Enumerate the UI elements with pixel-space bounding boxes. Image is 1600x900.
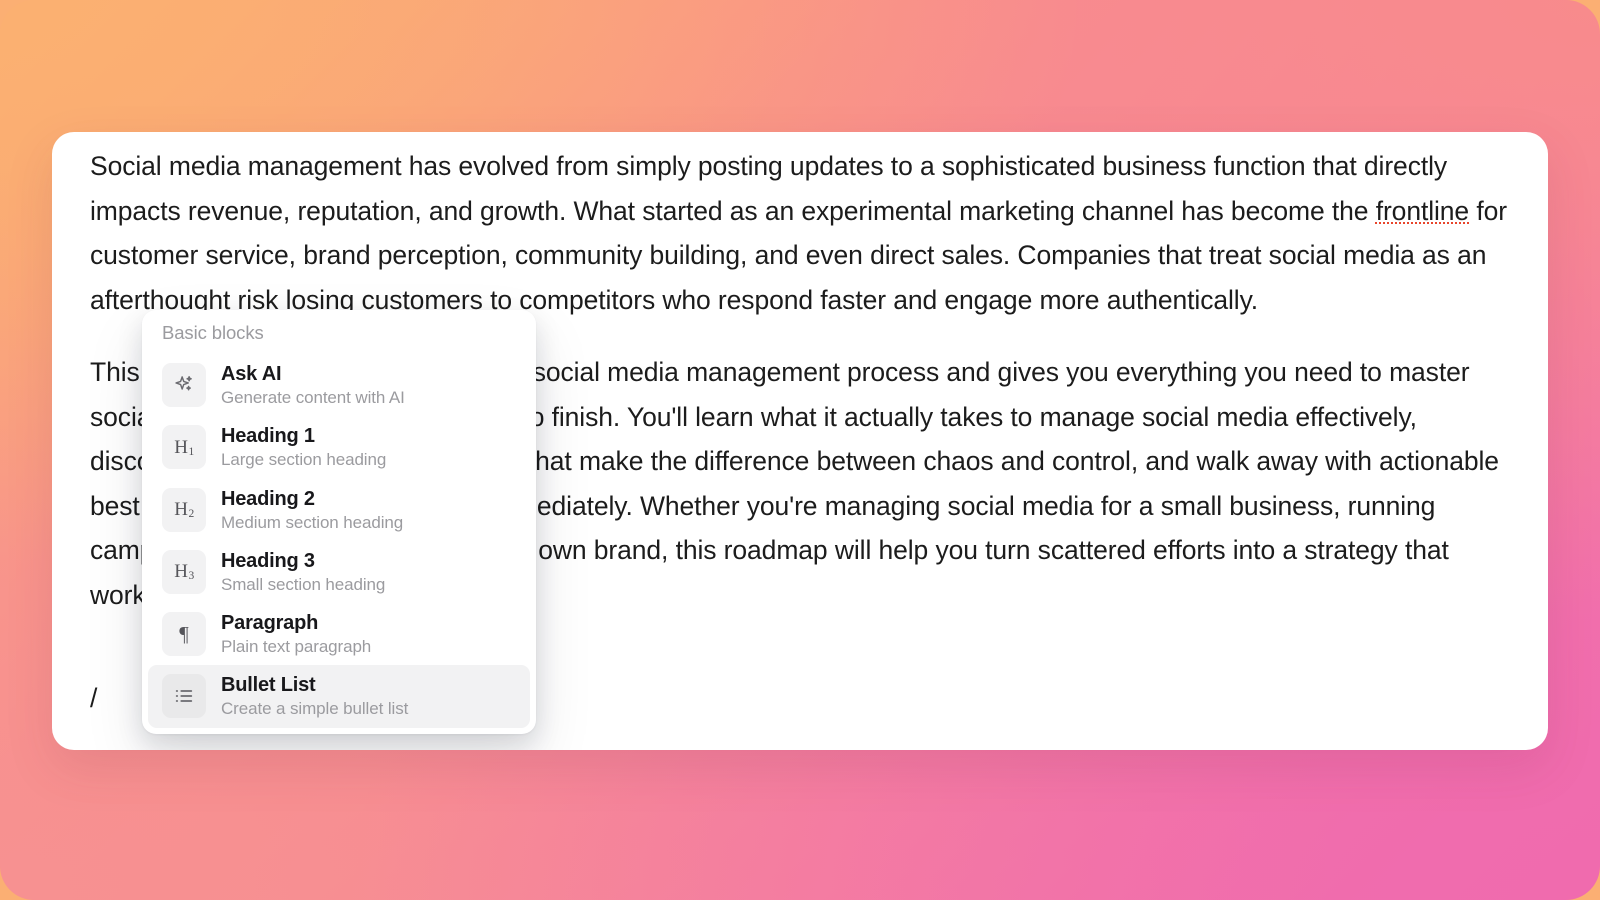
menu-item-description: Generate content with AI (221, 387, 405, 408)
menu-item-description: Plain text paragraph (221, 636, 371, 657)
paragraph-1-text-before: Social media management has evolved from… (90, 151, 1447, 226)
heading-1-icon: H1 (162, 425, 206, 469)
menu-item-paragraph[interactable]: ¶ Paragraph Plain text paragraph (148, 603, 530, 665)
misspelled-word[interactable]: frontline (1376, 196, 1469, 226)
menu-item-description: Small section heading (221, 574, 385, 595)
menu-item-heading-2[interactable]: H2 Heading 2 Medium section heading (148, 479, 530, 541)
pilcrow-icon: ¶ (162, 612, 206, 656)
menu-item-title: Heading 2 (221, 487, 403, 511)
bullet-list-icon (162, 674, 206, 718)
menu-item-description: Medium section heading (221, 512, 403, 533)
menu-item-text: Paragraph Plain text paragraph (221, 611, 371, 657)
menu-item-bullet-list[interactable]: Bullet List Create a simple bullet list (148, 665, 530, 727)
editor-card: Social media management has evolved from… (52, 132, 1548, 750)
menu-section-label: Basic blocks (142, 322, 536, 354)
heading-3-icon: H3 (162, 550, 206, 594)
menu-item-description: Large section heading (221, 449, 386, 470)
menu-item-title: Bullet List (221, 673, 408, 697)
menu-item-text: Heading 1 Large section heading (221, 424, 386, 470)
sparkles-icon (162, 363, 206, 407)
menu-item-text: Heading 2 Medium section heading (221, 487, 403, 533)
menu-item-text: Bullet List Create a simple bullet list (221, 673, 408, 719)
menu-item-text: Ask AI Generate content with AI (221, 362, 405, 408)
menu-item-text: Heading 3 Small section heading (221, 549, 385, 595)
menu-item-heading-1[interactable]: H1 Heading 1 Large section heading (148, 416, 530, 478)
menu-item-ask-ai[interactable]: Ask AI Generate content with AI (148, 354, 530, 416)
menu-item-title: Ask AI (221, 362, 405, 386)
menu-item-heading-3[interactable]: H3 Heading 3 Small section heading (148, 541, 530, 603)
slash-command-text[interactable]: / (90, 676, 97, 721)
menu-item-title: Heading 1 (221, 424, 386, 448)
menu-item-title: Paragraph (221, 611, 371, 635)
menu-item-title: Heading 3 (221, 549, 385, 573)
heading-2-icon: H2 (162, 488, 206, 532)
document-paragraph-1[interactable]: Social media management has evolved from… (90, 144, 1512, 322)
menu-item-description: Create a simple bullet list (221, 698, 408, 719)
slash-command-menu[interactable]: Basic blocks Ask AI Generate content wit… (142, 310, 536, 734)
